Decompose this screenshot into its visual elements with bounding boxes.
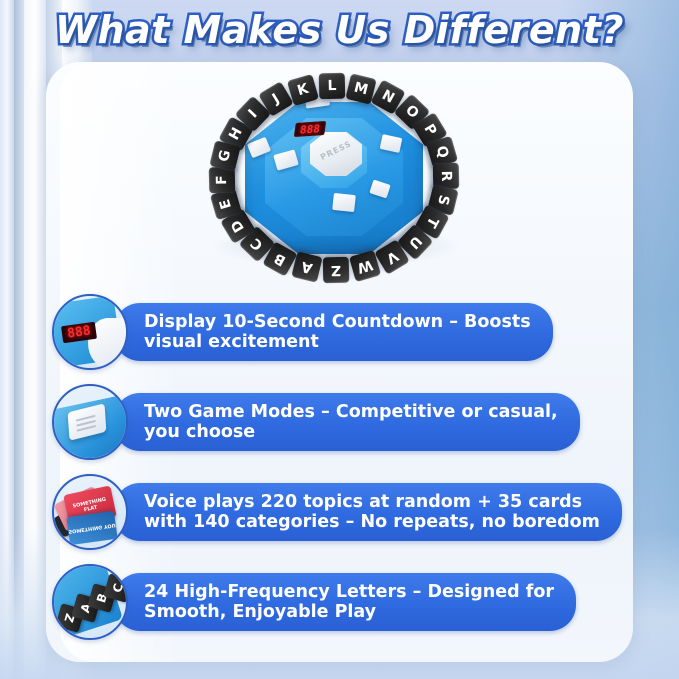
letter-key-label: I (246, 107, 261, 122)
letter-key-label: T (423, 214, 442, 230)
letter-key-label: Z (331, 262, 341, 278)
topic-card-blue: SOMETHING YOU (66, 511, 117, 545)
countdown-timer-icon: 888 (52, 294, 128, 370)
led-countdown-display: 888 (294, 121, 326, 137)
letter-key-label: R (438, 171, 454, 182)
letter-key-label: H (226, 125, 246, 143)
letter-key-l[interactable]: L (318, 73, 345, 100)
feature-text-topics: Voice plays 220 topics at random + 35 ca… (114, 483, 622, 542)
led-countdown-value: 888 (299, 122, 321, 136)
letter-keys-icon: ZABC (52, 564, 128, 640)
letter-key-label: K (295, 80, 310, 98)
feature-text-countdown: Display 10-Second Countdown – Boosts vis… (114, 303, 553, 362)
topic-cards-icon: READY AIM SOMETHING FLAT SOMETHING YOU (52, 474, 128, 550)
letter-key-label: N (379, 88, 397, 108)
feature-row-game-modes: Two Game Modes – Competitive or casual, … (52, 386, 580, 458)
letter-key-label: V (383, 247, 401, 266)
mode-line (77, 425, 97, 432)
letter-key-label: Q (432, 144, 451, 160)
timer-led-value: 888 (66, 323, 91, 341)
letter-key-label: C (247, 235, 265, 254)
promo-image-root: What Makes Us Different? PRESS 888 HIJKL… (0, 0, 679, 679)
letter-key-label: A (300, 258, 314, 276)
feature-row-topics: READY AIM SOMETHING FLAT SOMETHING YOU V… (52, 476, 622, 548)
feature-row-countdown: 888 Display 10-Second Countdown – Boosts… (52, 296, 553, 368)
letter-key-label: W (356, 256, 375, 276)
game-mode-switch-icon (52, 384, 128, 460)
letter-key-label: F (214, 175, 230, 185)
letter-key-label: M (352, 79, 369, 98)
letter-key-label: P (420, 122, 439, 139)
card-holder (332, 193, 356, 212)
letter-key-label: B (271, 249, 288, 268)
letter-key-label: O (402, 102, 422, 122)
page-title-wrap: What Makes Us Different? (0, 8, 679, 52)
page-title: What Makes Us Different? (55, 8, 624, 52)
letter-key-label: E (217, 197, 235, 211)
letter-key-label: G (216, 149, 234, 164)
feature-text-game-modes: Two Game Modes – Competitive or casual, … (114, 393, 580, 452)
letter-key-label: L (327, 78, 336, 94)
feature-row-letters: ZABC 24 High-Frequency Letters – Designe… (52, 566, 576, 638)
letter-key-label: J (270, 91, 283, 107)
hero-product-image: PRESS 888 HIJKLMNOPQRSTUVWZABCDEFG (183, 74, 483, 284)
feature-text-letters: 24 High-Frequency Letters – Designed for… (114, 573, 576, 632)
letter-key-label: D (228, 217, 248, 235)
letter-key-z[interactable]: Z (323, 257, 350, 284)
letter-key-label: S (434, 193, 452, 207)
letter-key-label: U (405, 232, 424, 251)
